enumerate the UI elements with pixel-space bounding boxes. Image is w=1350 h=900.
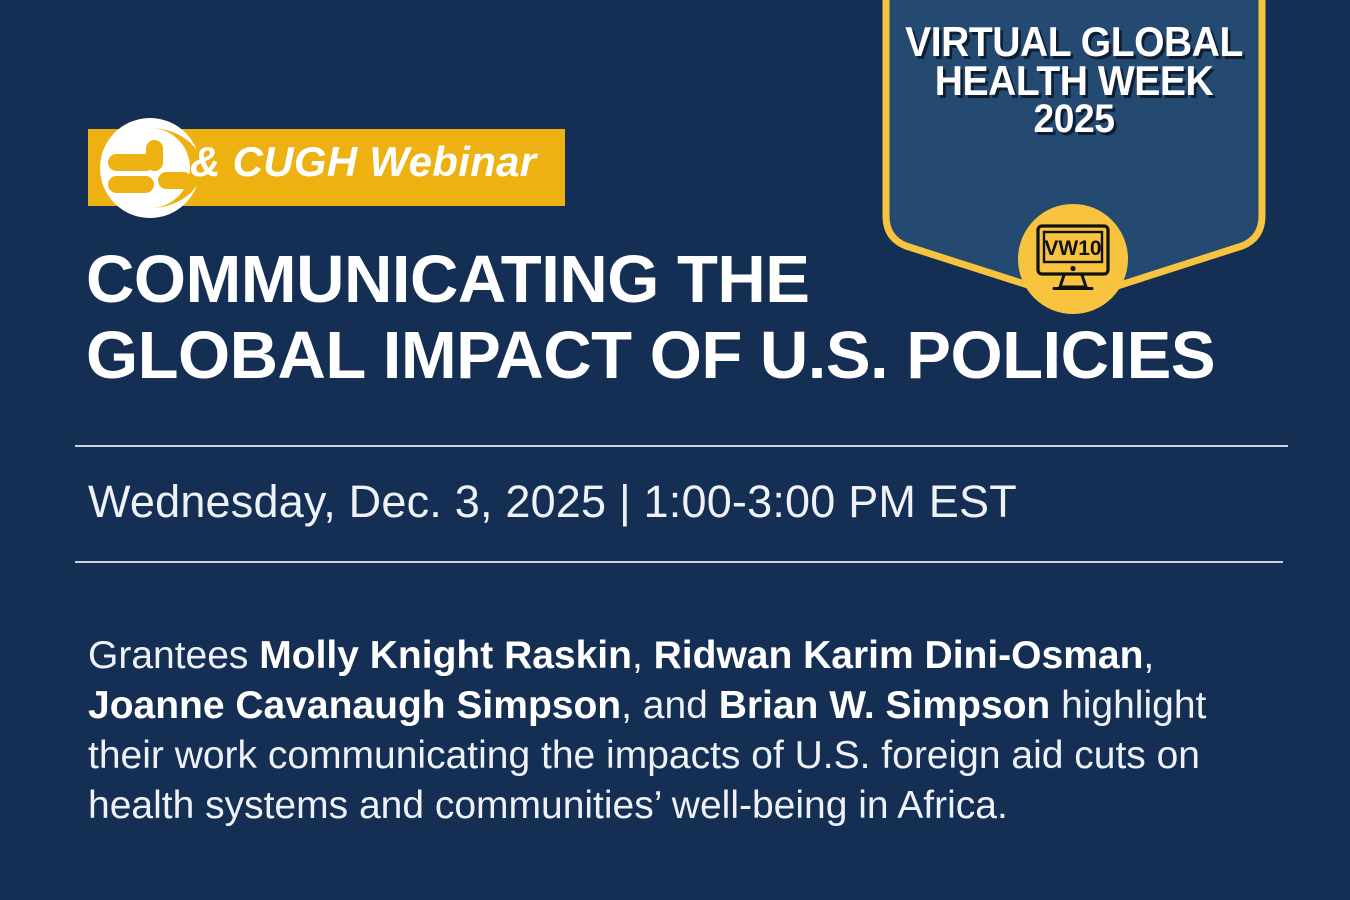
headline-line1: COMMUNICATING THE [86,242,1306,318]
webinar-promo-poster: VIRTUAL GLOBAL HEALTH WEEK 2025 VW10 & C… [0,0,1350,900]
description-sep-1: , [632,634,654,677]
speaker-name-4: Brian W. Simpson [719,684,1051,727]
speaker-name-1: Molly Knight Raskin [259,634,632,677]
badge-title-line1: VIRTUAL GLOBAL [890,22,1258,61]
divider-bottom [75,561,1283,563]
event-dateline: Wednesday, Dec. 3, 2025 | 1:00-3:00 PM E… [88,476,1017,528]
cugh-circle-logo [96,114,204,222]
badge-title: VIRTUAL GLOBAL HEALTH WEEK 2025 [890,22,1258,139]
headline-line2: GLOBAL IMPACT OF U.S. POLICIES [86,318,1306,394]
badge-title-line2: HEALTH WEEK [890,61,1258,100]
event-description: Grantees Molly Knight Raskin, Ridwan Kar… [88,631,1268,831]
divider-top [75,445,1288,447]
speaker-name-2: Ridwan Karim Dini-Osman [654,634,1144,677]
badge-year: 2025 [890,101,1258,139]
description-prefix: Grantees [88,634,259,677]
page-title: COMMUNICATING THE GLOBAL IMPACT OF U.S. … [86,242,1306,393]
description-sep-2: , [1143,634,1154,677]
cugh-webinar-label: & CUGH Webinar [190,138,536,186]
description-sep-3: , and [621,684,719,727]
speaker-name-3: Joanne Cavanaugh Simpson [88,684,621,727]
